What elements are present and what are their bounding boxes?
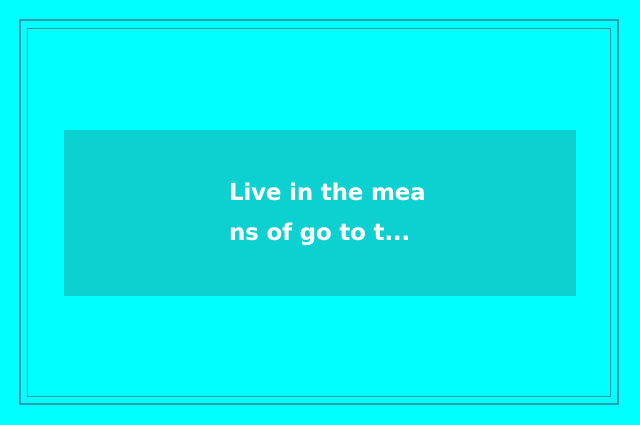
quote-line-1: Live in the mea [229,173,425,213]
quote-line-2: ns of go to t... [229,213,410,253]
quote-panel: Live in the mea ns of go to t... [64,130,576,296]
poster-canvas: Live in the mea ns of go to t... [0,0,640,425]
